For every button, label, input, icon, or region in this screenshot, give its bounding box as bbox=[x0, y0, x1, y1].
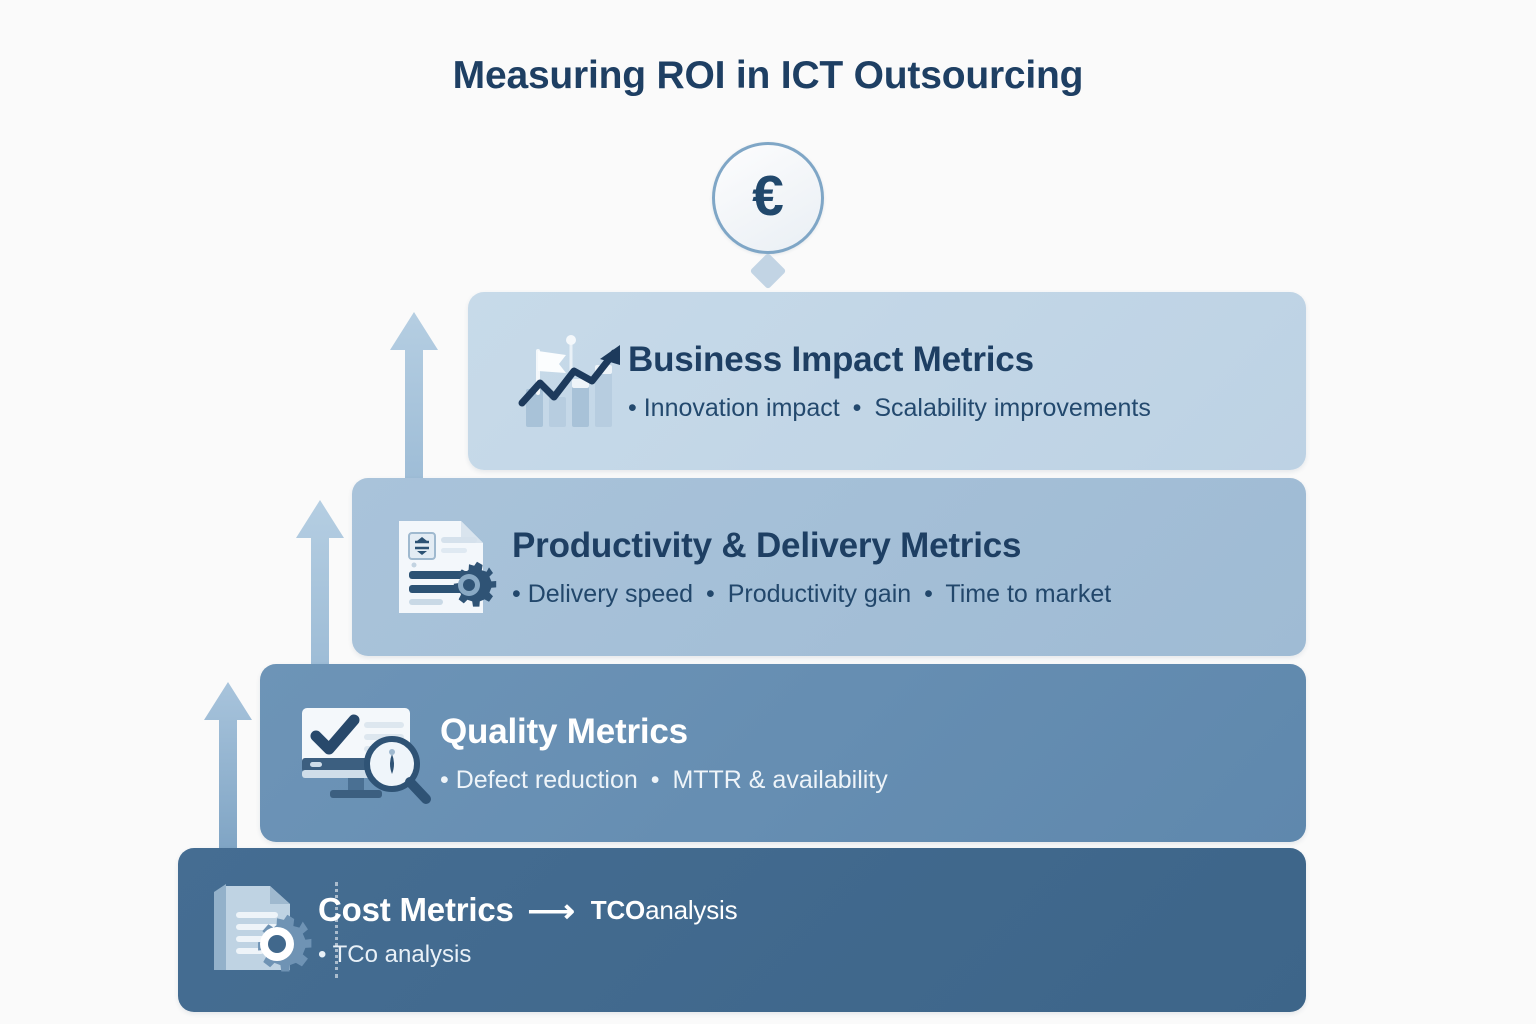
bullet-dot: • bbox=[847, 394, 868, 422]
level-bullets-quality: • Defect reduction • MTTR & availability bbox=[440, 766, 1306, 795]
cost-callout-rest: analysis bbox=[645, 895, 737, 926]
bullet-dot: • bbox=[918, 580, 939, 608]
infographic-canvas: Measuring ROI in ICT Outsourcing € bbox=[0, 0, 1536, 1024]
level-card-cost[interactable]: Cost Metrics ⟶ TCO analysis • TCo analys… bbox=[178, 848, 1306, 1012]
level-text-cost: Cost Metrics ⟶ TCO analysis • TCo analys… bbox=[318, 891, 1306, 969]
level-title-quality: Quality Metrics bbox=[440, 712, 1306, 752]
level-text-productivity: Productivity & Delivery Metrics • Delive… bbox=[512, 526, 1306, 609]
document-gear-cost-icon bbox=[178, 878, 318, 982]
bullet-item: Scalability improvements bbox=[874, 394, 1151, 422]
bullet-dot: • bbox=[440, 766, 449, 794]
bullet-item: MTTR & availability bbox=[672, 766, 887, 794]
level-card-quality[interactable]: Quality Metrics • Defect reduction • MTT… bbox=[260, 664, 1306, 842]
level-title-business-impact: Business Impact Metrics bbox=[628, 340, 1306, 380]
right-arrow-icon: ⟶ bbox=[528, 894, 575, 927]
page-title: Measuring ROI in ICT Outsourcing bbox=[0, 54, 1536, 98]
level-text-quality: Quality Metrics • Defect reduction • MTT… bbox=[440, 712, 1306, 795]
bullet-item: TCo analysis bbox=[333, 941, 472, 968]
level-title-cost: Cost Metrics ⟶ TCO analysis bbox=[318, 891, 1306, 929]
bullet-dot: • bbox=[512, 580, 521, 608]
level-bullets-productivity: • Delivery speed • Productivity gain • T… bbox=[512, 580, 1306, 609]
euro-symbol: € bbox=[752, 168, 784, 225]
bullet-item: Productivity gain bbox=[728, 580, 911, 608]
arrow-to-productivity-icon bbox=[294, 498, 346, 668]
monitor-check-magnifier-icon bbox=[260, 700, 440, 806]
bullet-item: Defect reduction bbox=[456, 766, 638, 794]
level-card-productivity[interactable]: Productivity & Delivery Metrics • Delive… bbox=[352, 478, 1306, 656]
level-bullets-business-impact: • Innovation impact • Scalability improv… bbox=[628, 394, 1306, 423]
cost-callout-strong: TCO bbox=[591, 895, 645, 926]
bullet-item: Time to market bbox=[945, 580, 1111, 608]
level-card-business-impact[interactable]: Business Impact Metrics • Innovation imp… bbox=[468, 292, 1306, 470]
document-gear-icon bbox=[352, 515, 512, 619]
bullet-item: Innovation impact bbox=[644, 394, 840, 422]
level-text-business-impact: Business Impact Metrics • Innovation imp… bbox=[628, 340, 1306, 423]
arrow-to-quality-icon bbox=[202, 680, 254, 852]
growth-chart-flag-icon bbox=[468, 331, 628, 431]
bullet-dot: • bbox=[645, 766, 666, 794]
bullet-dot: • bbox=[700, 580, 721, 608]
bullet-dot: • bbox=[318, 941, 326, 968]
level-title-cost-label: Cost Metrics bbox=[318, 891, 514, 929]
level-bullets-cost: • TCo analysis bbox=[318, 941, 1306, 969]
bullet-item: Delivery speed bbox=[528, 580, 693, 608]
diamond-connector-icon bbox=[750, 253, 787, 290]
arrow-to-business-impact-icon bbox=[388, 310, 440, 488]
euro-currency-icon: € bbox=[712, 142, 824, 254]
cost-card-divider bbox=[335, 882, 338, 978]
bullet-dot: • bbox=[628, 394, 637, 422]
level-title-productivity: Productivity & Delivery Metrics bbox=[512, 526, 1306, 566]
